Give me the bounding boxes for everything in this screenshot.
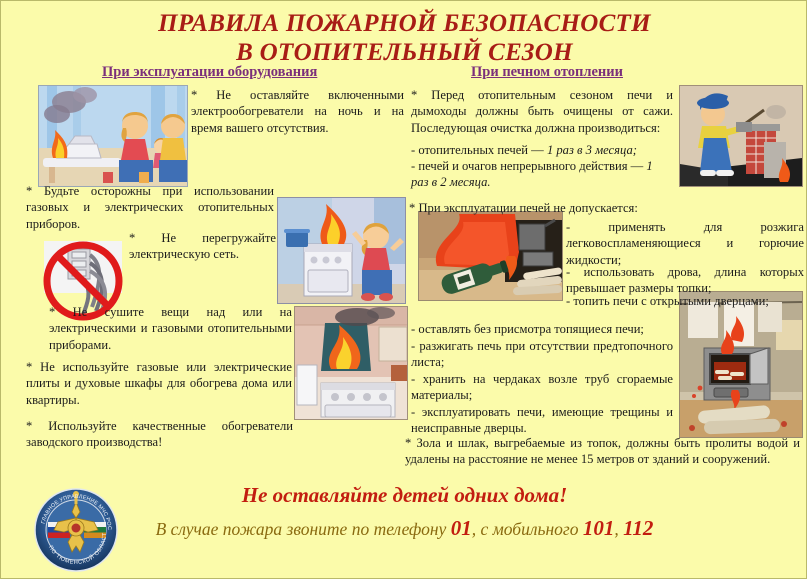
- image-chimney-sweep: [679, 85, 803, 187]
- left-item-2: * Будьте осторожны при использовании газ…: [26, 183, 274, 232]
- call-prefix: В случае пожара звоните по телефону: [156, 519, 451, 539]
- left-item-5: * Не используйте газовые или электрическ…: [26, 359, 292, 408]
- right-item-2-sub-6: - хранить на чердаках возле труб сгораем…: [411, 371, 673, 404]
- image-stove-fire: [277, 197, 406, 304]
- footer-emergency-line: В случае пожара звоните по телефону 01, …: [1, 516, 807, 541]
- footer-slogan: Не оставляйте детей одних дома!: [1, 483, 807, 508]
- image-laundry-stove-fire: [294, 306, 408, 420]
- phone-mobile-1: 101: [583, 516, 615, 540]
- right-item-2-sub-4: - оставлять без присмотра топящиеся печи…: [411, 321, 673, 337]
- image-iron-fire: [38, 85, 188, 187]
- sub3-text: - топить печи с открытыми дверцами;: [566, 294, 769, 308]
- title-line-1: ПРАВИЛА ПОЖАРНОЙ БЕЗОПАСНОСТИ: [1, 9, 807, 38]
- left-item-6: * Используйте качественные обогреватели …: [26, 418, 293, 451]
- right-item-2-heading: * При эксплуатации печей не допускается:: [409, 200, 699, 216]
- call-separator: ,: [614, 519, 623, 539]
- phone-landline: 01: [451, 516, 472, 540]
- left-item-1: * Не оставляйте включенными электрообогр…: [191, 87, 404, 136]
- sub1-italic: 1 раз в 3 месяца;: [547, 143, 637, 157]
- sub1-prefix: - отопительных печей —: [411, 143, 547, 157]
- right-item-1-sub-1: - отопительных печей — 1 раз в 3 месяца;: [411, 142, 681, 158]
- call-middle: , с мобильного: [472, 519, 583, 539]
- right-item-2-sub-1: - применять для розжига легковоспламеняю…: [566, 219, 804, 268]
- sub2-prefix: - печей и очагов непрерывного действия —: [411, 159, 646, 173]
- left-item-3: * Не перегружайте электрическую сеть.: [129, 230, 276, 263]
- right-item-1-sub-2: - печей и очагов непрерывного действия —…: [411, 158, 673, 191]
- right-item-2-sub-7: - эксплуатировать печи, имеющие трещины …: [411, 404, 673, 437]
- poster-title: ПРАВИЛА ПОЖАРНОЙ БЕЗОПАСНОСТИ В ОТОПИТЕЛ…: [1, 9, 807, 67]
- image-bottle-furnace: [418, 211, 563, 301]
- right-item-2-sub-5: - разжигать печь при отсутствии предтопо…: [411, 338, 673, 371]
- image-stove-laundry-fire: [679, 291, 803, 438]
- section-heading-stove-heating: При печном отоплении: [471, 64, 623, 81]
- right-item-1: * Перед отопительным сезоном печи и дымо…: [411, 87, 673, 136]
- fire-safety-poster: ПРАВИЛА ПОЖАРНОЙ БЕЗОПАСНОСТИ В ОТОПИТЕЛ…: [0, 0, 807, 579]
- right-item-2-sub-3: - топить печи с открытыми дверцами;: [566, 293, 804, 309]
- section-heading-equipment: При эксплуатации оборудования: [102, 64, 317, 81]
- title-line-2: В ОТОПИТЕЛЬНЫЙ СЕЗОН: [1, 38, 807, 67]
- left-item-4: * Не сушите вещи над или на электрически…: [49, 304, 292, 353]
- phone-mobile-2: 112: [623, 516, 653, 540]
- right-item-3: * Зола и шлак, выгребаемые из топок, дол…: [405, 435, 800, 468]
